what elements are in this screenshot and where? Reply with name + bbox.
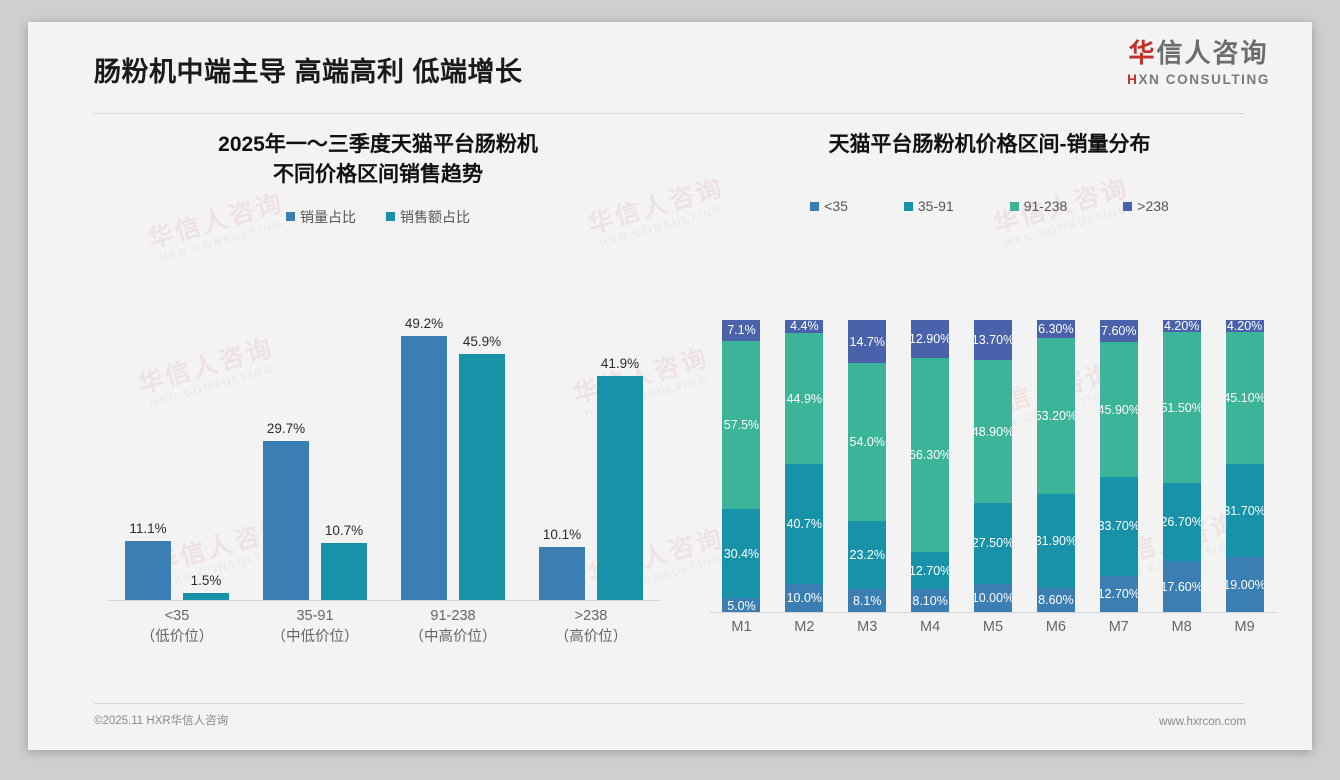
stack-segment[interactable]: 10.00% [974, 584, 1012, 613]
segment-value-label: 57.5% [724, 418, 759, 432]
stacked-bar[interactable]: 10.0%40.7%44.9%4.4% [785, 320, 823, 613]
x-tick-label: M9 [1213, 613, 1276, 645]
legend-item[interactable]: 销售额占比 [386, 207, 470, 227]
x-tick-label: 35-91（中低价位） [246, 601, 384, 645]
legend-item[interactable]: 销量占比 [286, 207, 356, 227]
segment-value-label: 66.30% [911, 448, 949, 462]
stack-segment[interactable]: 5.0% [722, 598, 760, 613]
segment-value-label: 19.00% [1226, 578, 1264, 592]
legend-label: <35 [824, 198, 848, 214]
x-axis-tick-labels: M1M2M3M4M5M6M7M8M9 [710, 613, 1276, 645]
bar[interactable] [459, 354, 505, 601]
stack-segment[interactable]: 7.1% [722, 320, 760, 341]
left-chart-title-line1: 2025年一～三季度天猫平台肠粉机 [218, 133, 538, 156]
segment-value-label: 8.60% [1038, 593, 1073, 607]
stack-segment[interactable]: 4.20% [1163, 320, 1201, 332]
x-tick-main: >238 [575, 608, 608, 624]
segment-value-label: 4.4% [790, 320, 819, 333]
stack-segment[interactable]: 30.4% [722, 509, 760, 598]
segment-value-label: 13.70% [974, 333, 1012, 347]
bar-wrapper: 49.2% [401, 305, 447, 601]
legend-label: 35-91 [918, 198, 954, 214]
bar-group: 10.1%41.9% [522, 305, 660, 601]
stacked-bar[interactable]: 8.60%31.90%53.20%6.30% [1037, 320, 1075, 613]
stack-segment[interactable]: 6.30% [1037, 320, 1075, 338]
bar[interactable] [125, 541, 171, 601]
x-tick-label: >238（高价位） [522, 601, 660, 645]
bar-value-label: 41.9% [601, 356, 639, 371]
stacked-bar[interactable]: 8.10%12.70%66.30%12.90% [911, 320, 949, 613]
stack-segment[interactable]: 26.70% [1163, 483, 1201, 561]
legend-swatch-icon [810, 202, 819, 211]
left-chart-title: 2025年一～三季度天猫平台肠粉机 不同价格区间销售趋势 [68, 130, 688, 191]
segment-value-label: 27.50% [974, 536, 1012, 550]
x-tick-label: 91-238（中高价位） [384, 601, 522, 645]
bar-value-label: 1.5% [191, 573, 222, 588]
stack-segment[interactable]: 57.5% [722, 341, 760, 509]
page-title: 肠粉机中端主导 高端高利 低端增长 [94, 50, 523, 89]
stack-segment[interactable]: 8.10% [911, 589, 949, 613]
stack-segment[interactable]: 13.70% [974, 320, 1012, 360]
logo-char-hua: 华 [1129, 38, 1157, 68]
segment-value-label: 12.70% [911, 564, 949, 578]
stack-segment[interactable]: 53.20% [1037, 338, 1075, 494]
segment-value-label: 45.10% [1226, 391, 1264, 405]
grouped-bar-chart: 11.1%1.5%29.7%10.7%49.2%45.9%10.1%41.9% … [90, 305, 668, 645]
right-chart-title-text: 天猫平台肠粉机价格区间-销量分布 [829, 133, 1151, 156]
bar[interactable] [321, 543, 367, 601]
x-tick-main: <35 [165, 608, 190, 624]
left-chart-panel: 2025年一～三季度天猫平台肠粉机 不同价格区间销售趋势 销量占比销售额占比 1… [68, 130, 688, 690]
stack-segment[interactable]: 40.7% [785, 464, 823, 583]
stack-segment[interactable]: 4.4% [785, 320, 823, 333]
bar-value-label: 49.2% [405, 316, 443, 331]
stacked-bar-column: 8.1%23.2%54.0%14.7% [836, 320, 899, 613]
bar-value-label: 45.9% [463, 334, 501, 349]
stack-segment[interactable]: 19.00% [1226, 557, 1264, 613]
segment-value-label: 17.60% [1163, 580, 1201, 594]
stack-segment[interactable]: 14.7% [848, 320, 886, 363]
x-tick-label: M6 [1024, 613, 1087, 645]
bar-wrapper: 10.7% [321, 305, 367, 601]
footer-divider [94, 703, 1244, 704]
stacked-bar-column: 8.60%31.90%53.20%6.30% [1024, 320, 1087, 613]
stacked-bar-column: 19.00%31.70%45.10%4.20% [1213, 320, 1276, 613]
legend-label: 销量占比 [300, 207, 356, 227]
x-tick-label: M2 [773, 613, 836, 645]
stack-segment[interactable]: 45.10% [1226, 332, 1264, 464]
stacked-bar-plot-area: 5.0%30.4%57.5%7.1%10.0%40.7%44.9%4.4%8.1… [710, 320, 1276, 613]
segment-value-label: 8.10% [912, 594, 947, 608]
stack-segment[interactable]: 44.9% [785, 333, 823, 465]
segment-value-label: 31.70% [1226, 504, 1264, 518]
x-tick-sub: （中低价位） [246, 627, 384, 648]
left-chart-title-line2: 不同价格区间销售趋势 [68, 160, 688, 190]
legend-label: >238 [1137, 198, 1169, 214]
stack-segment[interactable]: 45.90% [1100, 342, 1138, 477]
x-tick-label: M7 [1087, 613, 1150, 645]
x-tick-label: <35（低价位） [108, 601, 246, 645]
x-tick-main: 91-238 [430, 608, 475, 624]
stack-segment[interactable]: 10.0% [785, 584, 823, 613]
legend-swatch-icon [904, 202, 913, 211]
x-tick-label: M8 [1150, 613, 1213, 645]
bar-wrapper: 29.7% [263, 305, 309, 601]
stack-segment[interactable]: 8.60% [1037, 588, 1075, 613]
segment-value-label: 7.60% [1101, 324, 1136, 338]
logo-chinese: 华信人咨询 [1127, 40, 1270, 66]
right-chart-title: 天猫平台肠粉机价格区间-销量分布 [692, 130, 1287, 160]
bar-group: 29.7%10.7% [246, 305, 384, 601]
bar-value-label: 11.1% [129, 521, 166, 536]
left-chart-legend: 销量占比销售额占比 [68, 207, 688, 227]
stack-segment[interactable]: 12.70% [911, 552, 949, 589]
legend-swatch-icon [1123, 202, 1132, 211]
x-tick-label: M1 [710, 613, 773, 645]
stack-segment[interactable]: 27.50% [974, 503, 1012, 583]
bar-value-label: 29.7% [267, 421, 305, 436]
segment-value-label: 12.70% [1100, 587, 1138, 601]
x-tick-label: M3 [836, 613, 899, 645]
segment-value-label: 48.90% [974, 425, 1012, 439]
segment-value-label: 54.0% [849, 435, 884, 449]
segment-value-label: 30.4% [724, 547, 759, 561]
stack-segment[interactable]: 7.60% [1100, 320, 1138, 342]
stack-segment[interactable]: 48.90% [974, 360, 1012, 503]
company-logo: 华信人咨询 HXN CONSULTING [1127, 40, 1270, 87]
segment-value-label: 7.1% [727, 323, 756, 337]
stacked-bar-column: 12.70%33.70%45.90%7.60% [1087, 320, 1150, 613]
stacked-bar[interactable]: 12.70%33.70%45.90%7.60% [1100, 320, 1138, 613]
legend-item[interactable]: >238 [1123, 198, 1169, 214]
bar-wrapper: 1.5% [183, 305, 229, 601]
stacked-bar[interactable]: 5.0%30.4%57.5%7.1% [722, 320, 760, 613]
right-chart-panel: 天猫平台肠粉机价格区间-销量分布 <3535-9191-238>238 5.0%… [692, 130, 1287, 690]
x-tick-label: M5 [962, 613, 1025, 645]
bar-wrapper: 10.1% [539, 305, 585, 601]
logo-chars-rest: 信人咨询 [1157, 38, 1269, 68]
segment-value-label: 53.20% [1037, 409, 1075, 423]
segment-value-label: 4.20% [1164, 320, 1199, 332]
bar-value-label: 10.1% [543, 527, 581, 542]
stack-segment[interactable]: 54.0% [848, 363, 886, 521]
stack-segment[interactable]: 12.70% [1100, 576, 1138, 613]
segment-value-label: 10.0% [787, 591, 822, 605]
x-axis-tick-labels: <35（低价位）35-91（中低价位）91-238（中高价位）>238（高价位） [108, 601, 660, 645]
segment-value-label: 23.2% [849, 548, 884, 562]
logo-en-initial: H [1127, 72, 1138, 87]
bar[interactable] [539, 547, 585, 601]
stack-segment[interactable]: 66.30% [911, 358, 949, 552]
segment-value-label: 44.9% [787, 392, 822, 406]
stack-segment[interactable]: 51.50% [1163, 332, 1201, 483]
x-tick-label: M4 [899, 613, 962, 645]
segment-value-label: 6.30% [1038, 322, 1073, 336]
stacked-bar-column: 5.0%30.4%57.5%7.1% [710, 320, 773, 613]
stack-segment[interactable]: 23.2% [848, 521, 886, 589]
legend-item[interactable]: <35 [810, 198, 848, 214]
bar-wrapper: 45.9% [459, 305, 505, 601]
segment-value-label: 51.50% [1163, 401, 1201, 415]
bar[interactable] [401, 336, 447, 601]
stack-segment[interactable]: 31.70% [1226, 464, 1264, 557]
grouped-bar-plot-area: 11.1%1.5%29.7%10.7%49.2%45.9%10.1%41.9% [108, 305, 660, 601]
footer-website: www.hxrcon.com [1159, 716, 1246, 728]
bar-group: 49.2%45.9% [384, 305, 522, 601]
x-tick-sub: （中高价位） [384, 627, 522, 648]
legend-item[interactable]: 35-91 [904, 198, 954, 214]
bar[interactable] [597, 376, 643, 601]
stack-segment[interactable]: 12.90% [911, 320, 949, 358]
segment-value-label: 12.90% [911, 332, 949, 346]
legend-swatch-icon [1010, 202, 1019, 211]
stacked-bar[interactable]: 8.1%23.2%54.0%14.7% [848, 320, 886, 613]
bar-value-label: 10.7% [325, 523, 363, 538]
logo-english: HXN CONSULTING [1127, 73, 1270, 87]
legend-label: 91-238 [1024, 198, 1068, 214]
segment-value-label: 14.7% [849, 335, 884, 349]
logo-en-rest: XN CONSULTING [1138, 72, 1270, 87]
stacked-bar-chart: 5.0%30.4%57.5%7.1%10.0%40.7%44.9%4.4%8.1… [702, 320, 1280, 645]
legend-swatch-icon [286, 212, 295, 221]
legend-swatch-icon [386, 212, 395, 221]
stacked-bar-column: 17.60%26.70%51.50%4.20% [1150, 320, 1213, 613]
segment-value-label: 40.7% [787, 517, 822, 531]
legend-item[interactable]: 91-238 [1010, 198, 1068, 214]
stacked-bar[interactable]: 10.00%27.50%48.90%13.70% [974, 320, 1012, 613]
segment-value-label: 8.1% [853, 594, 882, 608]
segment-value-label: 33.70% [1100, 519, 1138, 533]
footer-copyright: ©2025.11 HXR华信人咨询 [94, 712, 228, 728]
right-chart-legend: <3535-9191-238>238 [692, 198, 1287, 214]
stack-segment[interactable]: 33.70% [1100, 477, 1138, 576]
stack-segment[interactable]: 8.1% [848, 589, 886, 613]
x-tick-main: 35-91 [296, 608, 333, 624]
stacked-bar-column: 10.0%40.7%44.9%4.4% [773, 320, 836, 613]
bar[interactable] [263, 441, 309, 601]
stacked-bar-column: 10.00%27.50%48.90%13.70% [962, 320, 1025, 613]
bar-wrapper: 11.1% [125, 305, 171, 601]
stack-segment[interactable]: 17.60% [1163, 561, 1201, 613]
x-tick-sub: （高价位） [522, 627, 660, 648]
stacked-bar[interactable]: 17.60%26.70%51.50%4.20% [1163, 320, 1201, 613]
legend-label: 销售额占比 [400, 207, 470, 227]
segment-value-label: 31.90% [1037, 534, 1075, 548]
segment-value-label: 10.00% [974, 591, 1012, 605]
bar-group: 11.1%1.5% [108, 305, 246, 601]
stack-segment[interactable]: 4.20% [1226, 320, 1264, 332]
segment-value-label: 45.90% [1100, 403, 1138, 417]
stacked-bar[interactable]: 19.00%31.70%45.10%4.20% [1226, 320, 1264, 613]
slide-canvas: 肠粉机中端主导 高端高利 低端增长 华信人咨询 HXN CONSULTING 华… [28, 22, 1312, 750]
slide-header: 肠粉机中端主导 高端高利 低端增长 华信人咨询 HXN CONSULTING [28, 22, 1312, 114]
stack-segment[interactable]: 31.90% [1037, 494, 1075, 587]
segment-value-label: 5.0% [727, 599, 756, 613]
header-divider [94, 113, 1244, 114]
segment-value-label: 4.20% [1227, 320, 1262, 332]
bar-wrapper: 41.9% [597, 305, 643, 601]
stacked-bar-column: 8.10%12.70%66.30%12.90% [899, 320, 962, 613]
segment-value-label: 26.70% [1163, 515, 1201, 529]
x-tick-sub: （低价位） [108, 627, 246, 648]
